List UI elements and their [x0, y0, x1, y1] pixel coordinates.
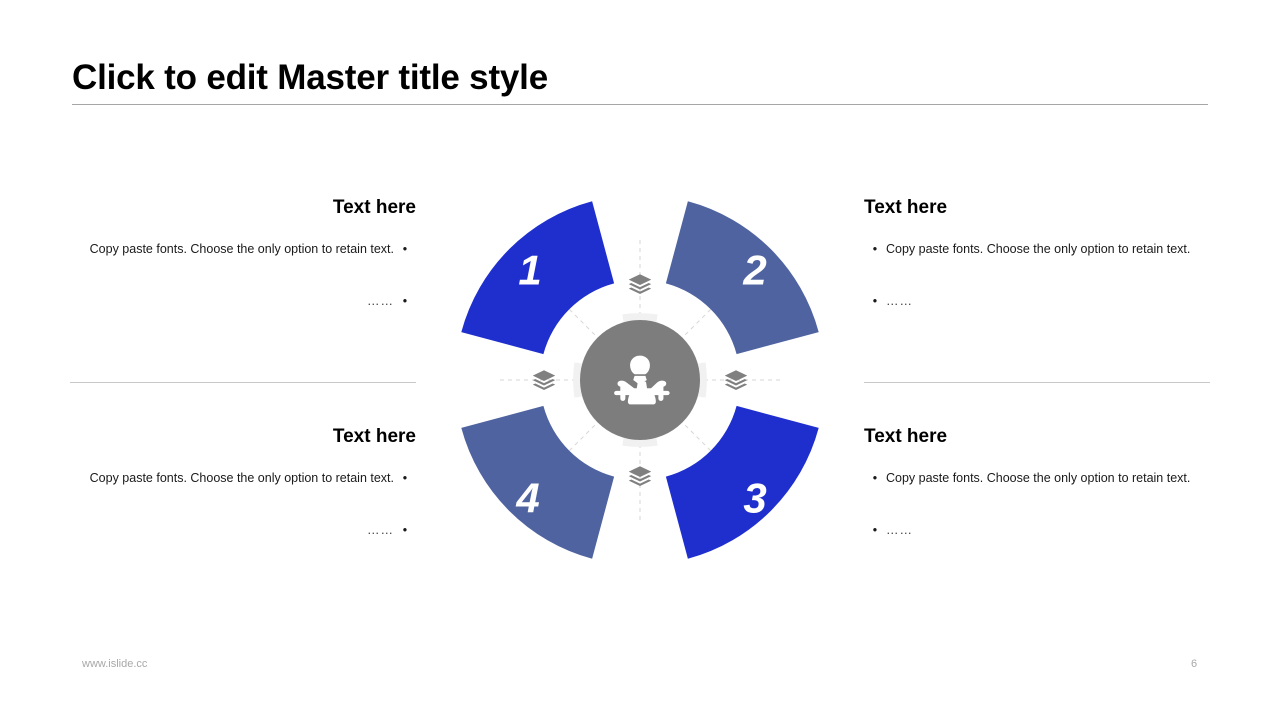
layers-icon-south	[629, 466, 652, 486]
petal-number-3: 3	[743, 475, 766, 522]
text-block-bottom-left: Text here • Copy paste fonts. Choose the…	[70, 424, 416, 543]
layers-icon-west	[533, 370, 556, 390]
bullet-text: Copy paste fonts. Choose the only option…	[70, 236, 394, 262]
footer-url[interactable]: www.islide.cc	[82, 658, 147, 670]
bullet-text: ……	[70, 288, 394, 314]
petal-number-4: 4	[515, 475, 539, 522]
block-heading[interactable]: Text here	[864, 424, 1210, 450]
bullet-text: Copy paste fonts. Choose the only option…	[886, 236, 1210, 262]
text-block-bottom-right: Text here • Copy paste fonts. Choose the…	[864, 424, 1210, 543]
bullet-text: ……	[886, 517, 1210, 543]
bullet-item[interactable]: • ……	[864, 288, 1210, 314]
radial-petal-diagram: 1 2 3 4	[440, 180, 840, 580]
bullet-text: Copy paste fonts. Choose the only option…	[886, 465, 1210, 491]
layers-icon-east	[725, 370, 748, 390]
bullet-item[interactable]: • Copy paste fonts. Choose the only opti…	[864, 465, 1210, 491]
bullet-item[interactable]: • ……	[70, 517, 416, 543]
column-divider-right	[864, 382, 1210, 383]
bullet-item[interactable]: • ……	[70, 288, 416, 314]
block-heading[interactable]: Text here	[70, 424, 416, 450]
bullet-item[interactable]: • ……	[864, 517, 1210, 543]
bullet-text: ……	[886, 288, 1210, 314]
bullet-marker-icon: •	[864, 288, 886, 314]
page-title[interactable]: Click to edit Master title style	[72, 56, 1208, 100]
petal-number-2: 2	[742, 247, 766, 294]
text-block-top-left: Text here • Copy paste fonts. Choose the…	[70, 195, 416, 314]
petal-number-1: 1	[518, 247, 541, 294]
bullet-marker-icon: •	[394, 517, 416, 543]
bullet-marker-icon: •	[394, 465, 416, 491]
title-block: Click to edit Master title style	[72, 56, 1208, 100]
footer-page-number: 6	[1180, 658, 1208, 670]
block-heading[interactable]: Text here	[70, 195, 416, 221]
title-underline-rule	[72, 104, 1208, 105]
bullet-marker-icon: •	[394, 288, 416, 314]
bullet-text: ……	[70, 517, 394, 543]
bullet-marker-icon: •	[864, 236, 886, 262]
bullet-text: Copy paste fonts. Choose the only option…	[70, 465, 394, 491]
column-divider-left	[70, 382, 416, 383]
text-block-top-right: Text here • Copy paste fonts. Choose the…	[864, 195, 1210, 314]
bullet-marker-icon: •	[864, 465, 886, 491]
bullet-item[interactable]: • Copy paste fonts. Choose the only opti…	[70, 236, 416, 262]
bullet-item[interactable]: • Copy paste fonts. Choose the only opti…	[864, 236, 1210, 262]
bullet-marker-icon: •	[394, 236, 416, 262]
bullet-item[interactable]: • Copy paste fonts. Choose the only opti…	[70, 465, 416, 491]
bullet-marker-icon: •	[864, 517, 886, 543]
block-heading[interactable]: Text here	[864, 195, 1210, 221]
